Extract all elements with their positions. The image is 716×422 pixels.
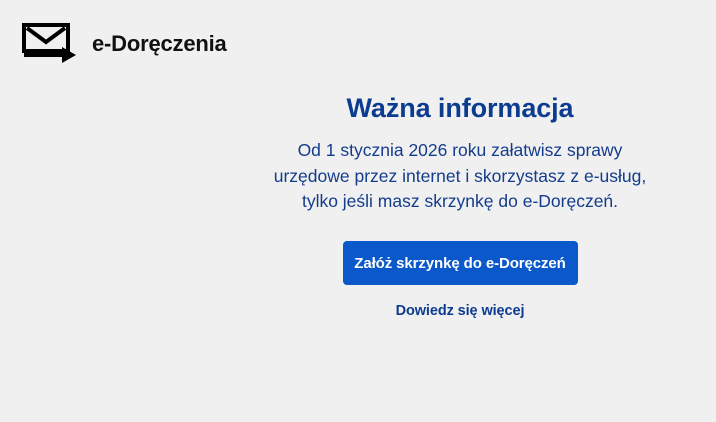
notice-body-line-1: Od 1 stycznia 2026 roku załatwisz sprawy bbox=[180, 138, 716, 164]
notice-block: Ważna informacja Od 1 stycznia 2026 roku… bbox=[180, 92, 716, 319]
brand-logo[interactable]: e-Doręczenia bbox=[22, 22, 227, 66]
notice-body: Od 1 stycznia 2026 roku załatwisz sprawy… bbox=[180, 138, 716, 215]
envelope-arrow-icon bbox=[22, 23, 78, 65]
page-title: Ważna informacja bbox=[180, 92, 716, 124]
notice-body-line-2: urzędowe przez internet i skorzystasz z … bbox=[180, 164, 716, 190]
notice-body-line-3: tylko jeśli masz skrzynkę do e-Doręczeń. bbox=[180, 189, 716, 215]
learn-more-link[interactable]: Dowiedz się więcej bbox=[396, 303, 525, 319]
cta-group: Załóż skrzynkę do e-Doręczeń Dowiedz się… bbox=[180, 241, 716, 319]
brand-name: e-Doręczenia bbox=[92, 33, 227, 55]
create-mailbox-button[interactable]: Załóż skrzynkę do e-Doręczeń bbox=[343, 241, 578, 285]
